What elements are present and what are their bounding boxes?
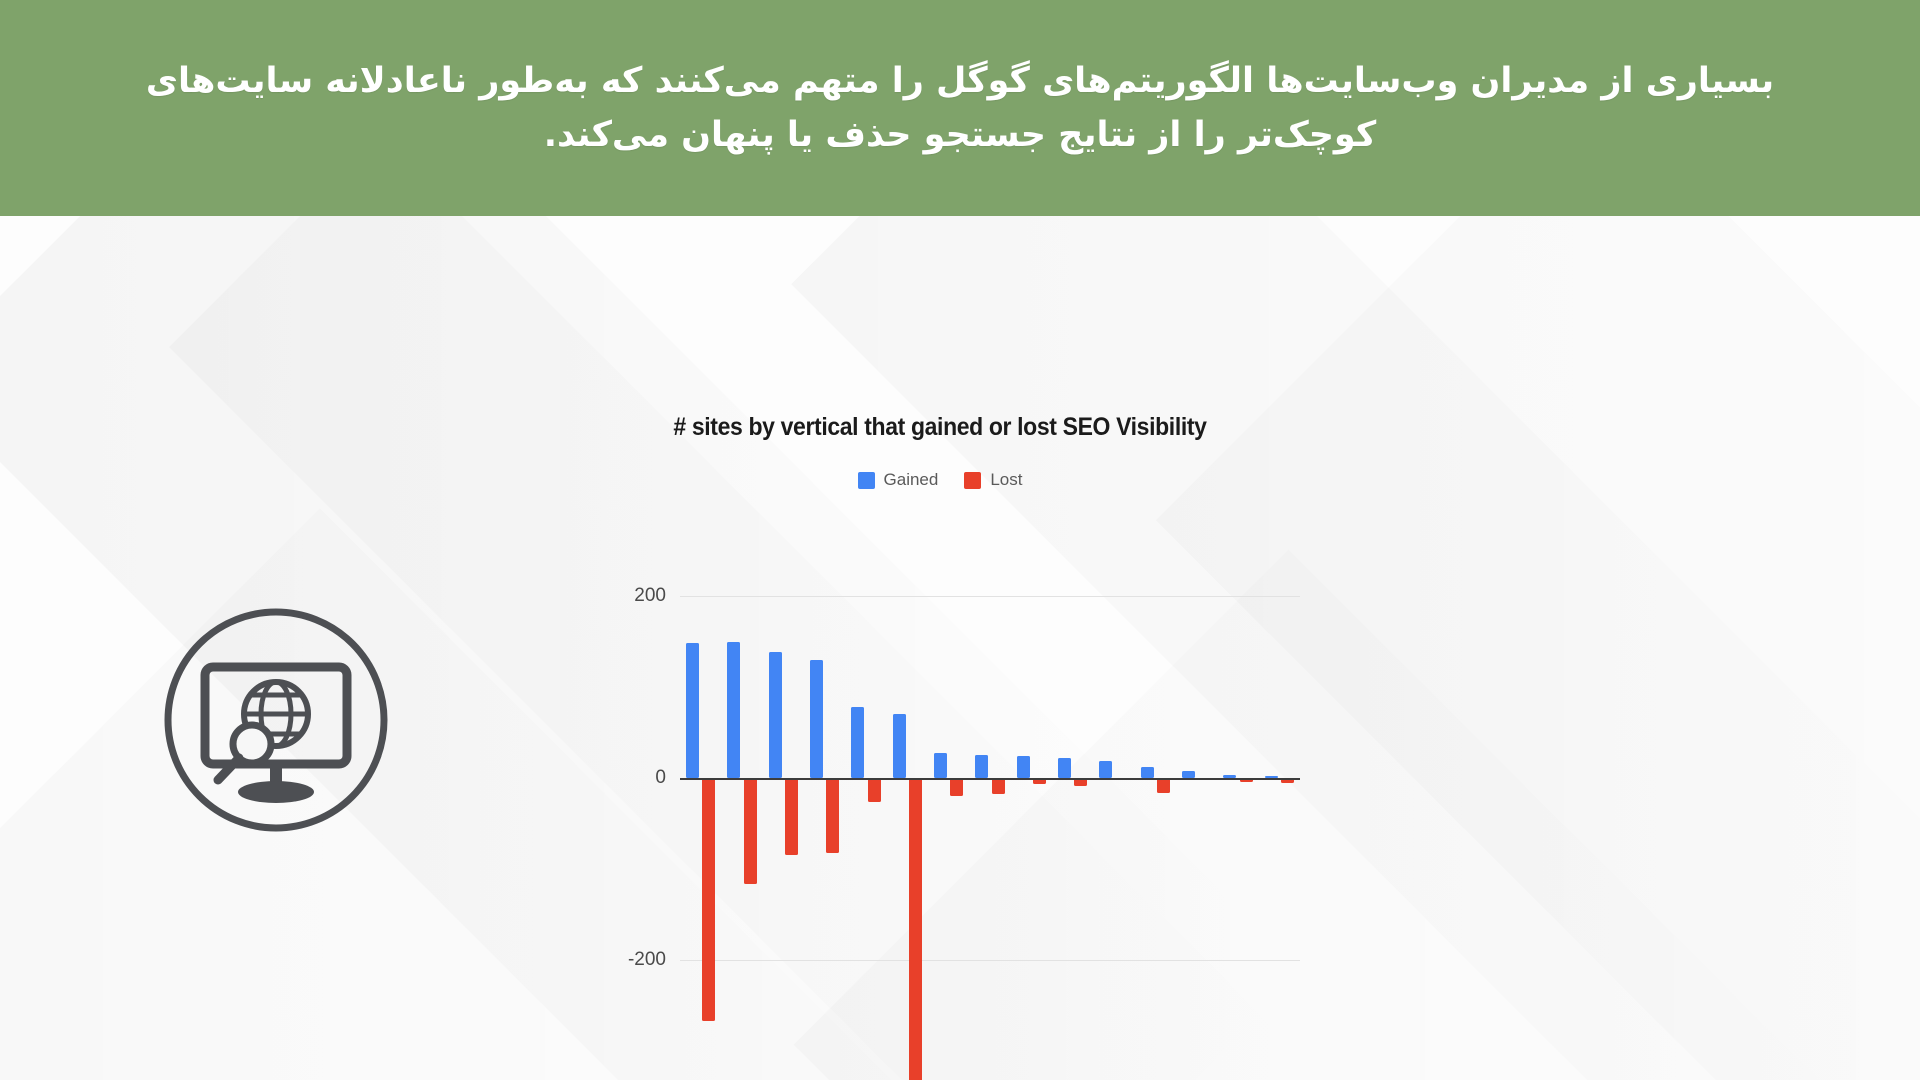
bar-lost-online-community[interactable] bbox=[744, 778, 757, 884]
y-axis-tick-label: 0 bbox=[576, 767, 666, 789]
chart-title: # sites by vertical that gained or lost … bbox=[590, 413, 1289, 442]
gridline bbox=[680, 960, 1300, 961]
legend-item-gained[interactable]: Gained bbox=[858, 470, 939, 490]
bar-lost-publisher[interactable] bbox=[909, 778, 922, 1080]
bar-gained-dictionary[interactable] bbox=[1141, 767, 1154, 778]
bar-gained-online-community[interactable] bbox=[727, 642, 740, 778]
bar-lost-e-commerce[interactable] bbox=[702, 778, 715, 1021]
legend-swatch-gained bbox=[858, 472, 875, 489]
bar-gained-SaaS[interactable] bbox=[810, 660, 823, 778]
seo-visibility-bar-chart: # sites by vertical that gained or lost … bbox=[560, 216, 1320, 1080]
chart-plot-area: 2000-200-400e-commerceonline communityed… bbox=[680, 596, 1300, 796]
bar-gained-food[interactable] bbox=[1058, 758, 1071, 778]
bar-gained-toys[interactable] bbox=[1182, 771, 1195, 778]
bar-gained-other[interactable] bbox=[1017, 756, 1030, 778]
bar-lost-SaaS[interactable] bbox=[826, 778, 839, 853]
slide-body: # sites by vertical that gained or lost … bbox=[0, 216, 1920, 1080]
bar-lost-games[interactable] bbox=[950, 778, 963, 796]
bar-gained-education[interactable] bbox=[769, 652, 782, 778]
y-axis-tick-label: 200 bbox=[576, 585, 666, 607]
bar-gained-government-site[interactable] bbox=[851, 707, 864, 778]
bar-gained-e-commerce[interactable] bbox=[686, 643, 699, 778]
banner-text: بسیاری از مدیران وب‌سایت‌ها الگوریتم‌های… bbox=[65, 54, 1855, 163]
website-search-monitor-icon bbox=[160, 604, 392, 836]
legend-label-lost: Lost bbox=[990, 470, 1022, 490]
legend-label-gained: Gained bbox=[884, 470, 939, 490]
bar-gained-publisher[interactable] bbox=[893, 714, 906, 778]
bar-lost-education[interactable] bbox=[785, 778, 798, 855]
bar-gained-software-vendor[interactable] bbox=[975, 755, 988, 778]
banner: بسیاری از مدیران وب‌سایت‌ها الگوریتم‌های… bbox=[0, 0, 1920, 216]
chart-legend: Gained Lost bbox=[560, 470, 1320, 490]
bar-gained-fashion[interactable] bbox=[1099, 761, 1112, 778]
legend-item-lost[interactable]: Lost bbox=[964, 470, 1022, 490]
bar-gained-games[interactable] bbox=[934, 753, 947, 778]
bar-lost-dictionary[interactable] bbox=[1157, 778, 1170, 793]
gridline bbox=[680, 596, 1300, 597]
axis-zero-line bbox=[680, 778, 1300, 780]
y-axis-tick-label: -200 bbox=[576, 949, 666, 971]
bar-lost-government-site[interactable] bbox=[868, 778, 881, 802]
legend-swatch-lost bbox=[964, 472, 981, 489]
slide-page: بسیاری از مدیران وب‌سایت‌ها الگوریتم‌های… bbox=[0, 0, 1920, 1080]
bar-lost-software-vendor[interactable] bbox=[992, 778, 1005, 794]
